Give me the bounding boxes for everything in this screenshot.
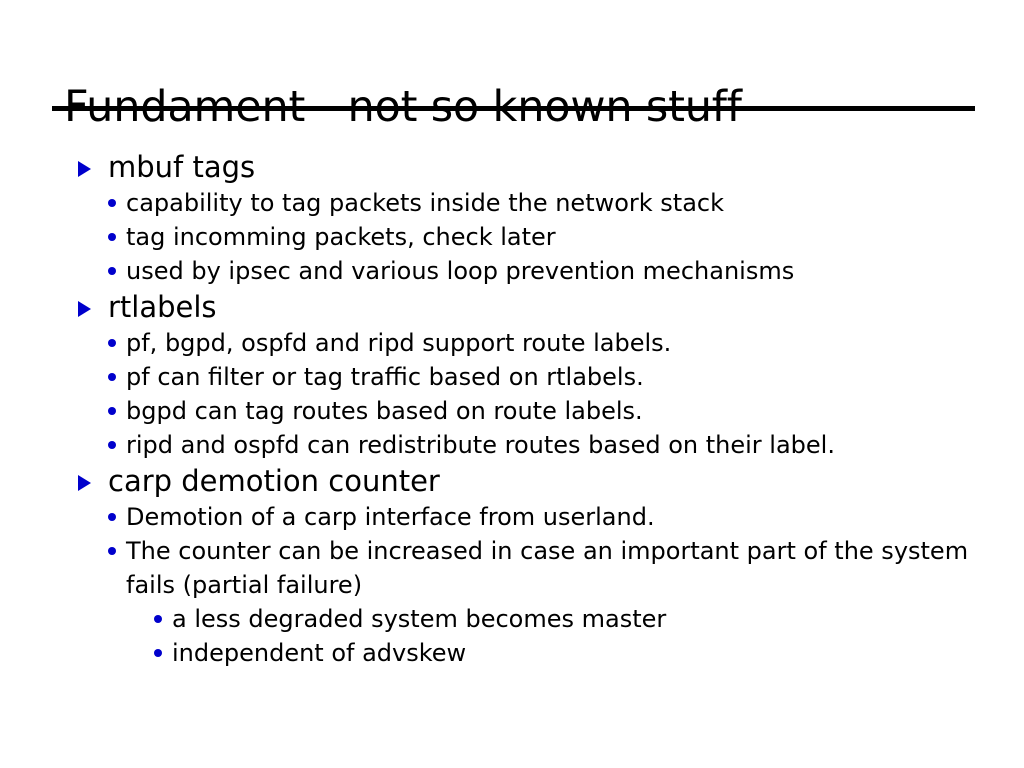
presentation-slide: Fundament - not so known stuff mbuf tags… [0, 0, 1024, 768]
triangle-bullet-icon [78, 475, 91, 491]
dot-bullet-icon [108, 339, 116, 347]
dot-bullet-icon [108, 441, 116, 449]
outline-level2-label: ripd and ospfd can redistribute routes b… [126, 428, 1024, 462]
outline-level2-label: bgpd can tag routes based on route label… [126, 394, 1024, 428]
outline-level2-label: used by ipsec and various loop preventio… [126, 254, 1024, 288]
dot-bullet-icon [108, 513, 116, 521]
outline-level1-item[interactable]: rtlabels [0, 288, 1024, 326]
outline-group: rtlabels pf, bgpd, ospfd and ripd suppor… [0, 288, 1024, 462]
dot-bullet-icon [108, 373, 116, 381]
outline-body: mbuf tags capability to tag packets insi… [0, 148, 1024, 670]
outline-level1-label: carp demotion counter [108, 464, 440, 498]
dot-bullet-icon [154, 649, 162, 657]
outline-level2-label: The counter can be increased in case an … [126, 534, 1006, 602]
outline-level2-item[interactable]: Demotion of a carp interface from userla… [0, 500, 1024, 534]
outline-level1-label: rtlabels [108, 290, 217, 324]
dot-bullet-icon [108, 547, 116, 555]
outline-level2-item[interactable]: capability to tag packets inside the net… [0, 186, 1024, 220]
outline-level2-label: pf, bgpd, ospfd and ripd support route l… [126, 326, 1024, 360]
outline-level3-label: a less degraded system becomes master [172, 602, 1024, 636]
dot-bullet-icon [154, 615, 162, 623]
outline-level1-label: mbuf tags [108, 150, 255, 184]
outline-level3-item[interactable]: a less degraded system becomes master [0, 602, 1024, 636]
outline-level2-item[interactable]: ripd and ospfd can redistribute routes b… [0, 428, 1024, 462]
outline-level2-label: pf can filter or tag traffic based on rt… [126, 360, 1024, 394]
outline-level2-item[interactable]: pf can filter or tag traffic based on rt… [0, 360, 1024, 394]
triangle-bullet-icon [78, 161, 91, 177]
triangle-bullet-icon [78, 301, 91, 317]
outline-level2-label: tag incomming packets, check later [126, 220, 1024, 254]
outline-level2-item[interactable]: The counter can be increased in case an … [0, 534, 1006, 602]
dot-bullet-icon [108, 199, 116, 207]
outline-group: carp demotion counter Demotion of a carp… [0, 462, 1024, 670]
outline-level3-item[interactable]: independent of advskew [0, 636, 1024, 670]
outline-group: mbuf tags capability to tag packets insi… [0, 148, 1024, 288]
outline-level2-label: capability to tag packets inside the net… [126, 186, 1024, 220]
outline-level2-item[interactable]: tag incomming packets, check later [0, 220, 1024, 254]
outline-level2-item[interactable]: pf, bgpd, ospfd and ripd support route l… [0, 326, 1024, 360]
dot-bullet-icon [108, 233, 116, 241]
dot-bullet-icon [108, 407, 116, 415]
outline-level2-item[interactable]: bgpd can tag routes based on route label… [0, 394, 1024, 428]
outline-level2-item[interactable]: used by ipsec and various loop preventio… [0, 254, 1024, 288]
outline-level1-item[interactable]: carp demotion counter [0, 462, 1024, 500]
outline-level1-item[interactable]: mbuf tags [0, 148, 1024, 186]
title-underline-rule [52, 106, 975, 111]
dot-bullet-icon [108, 267, 116, 275]
outline-level2-label: Demotion of a carp interface from userla… [126, 500, 1024, 534]
outline-level3-label: independent of advskew [172, 636, 1024, 670]
